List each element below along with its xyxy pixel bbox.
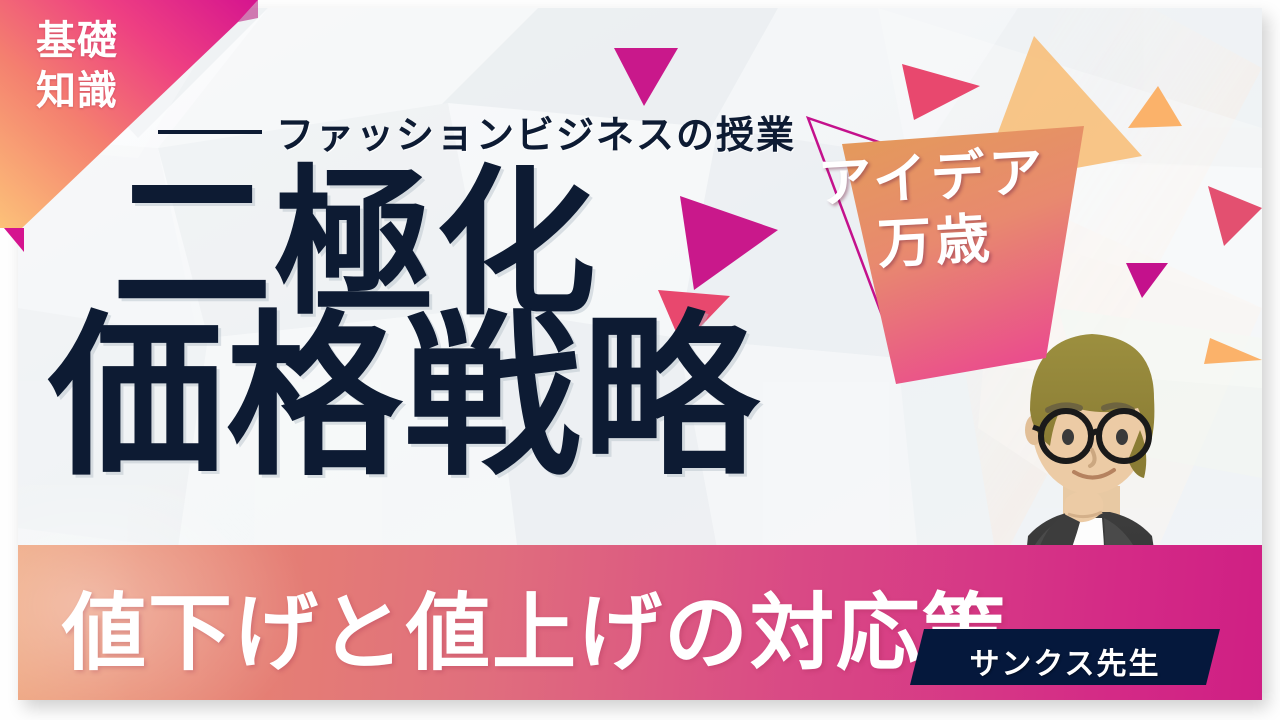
ribbon-label: 基礎 知識 [22, 16, 132, 116]
ribbon-fold [4, 228, 24, 252]
ribbon-line-1: 基礎 [22, 16, 132, 66]
subtitle-text: ファッションビジネスの授業 [276, 104, 796, 159]
corner-ribbon: 基礎 知識 [0, 0, 300, 270]
nameplate: サンクス先生 [910, 629, 1220, 685]
headline-line-2: 価格戦略 [48, 313, 908, 484]
band-headline: 値下げと値上げの対応策 [62, 566, 1008, 687]
ribbon-line-2: 知識 [22, 66, 132, 116]
poster-stage: 値下げと値上げの対応策 サンクス先生 アイデ [0, 0, 1280, 720]
nameplate-label: サンクス先生 [910, 639, 1220, 683]
